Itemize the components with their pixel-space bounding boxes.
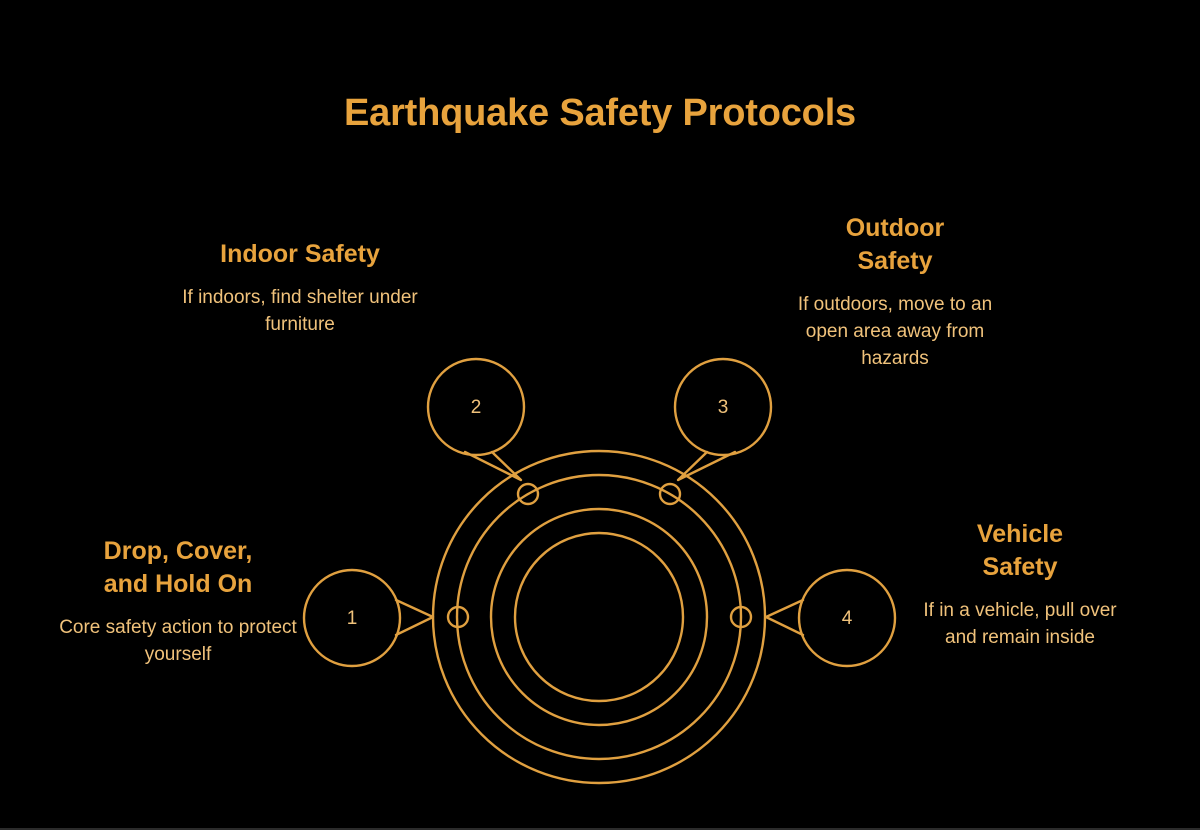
ring-outer [433,451,765,783]
step-title-outdoor-safety: Outdoor Safety [775,212,1015,278]
step-label-drop-cover-hold-on: Drop, Cover, and Hold On Core safety act… [58,535,298,669]
numbered-bubbles: 1 2 3 4 [304,359,895,666]
step-description-vehicle-safety: If in a vehicle, pull over and remain in… [905,598,1135,652]
tail-4 [766,600,803,635]
bubble-4-number: 4 [842,608,853,629]
step-title-outdoor-safety-line1: Outdoor [846,214,945,242]
bubble-1-number: 1 [347,608,358,629]
step-title-vehicle-safety-line2: Safety [982,553,1057,581]
ring-diagram: 1 2 3 4 [0,0,1200,830]
ring-second [457,475,741,759]
step-label-outdoor-safety: Outdoor Safety If outdoors, move to an o… [775,212,1015,373]
step-title-drop-cover-hold-on-line1: Drop, Cover, [104,537,253,565]
step-title-vehicle-safety-line1: Vehicle [977,520,1063,548]
tail-3 [678,452,735,480]
tail-2 [465,452,521,480]
concentric-rings [433,451,765,783]
step-title-indoor-safety: Indoor Safety [175,238,425,271]
ring-third [491,509,707,725]
ring-inner [515,533,683,701]
step-title-outdoor-safety-line2: Safety [857,247,932,275]
bubble-3-number: 3 [718,397,729,418]
step-description-outdoor-safety: If outdoors, move to an open area away f… [775,292,1015,373]
step-description-drop-cover-hold-on: Core safety action to protect yourself [58,615,298,669]
step-title-drop-cover-hold-on-line2: and Hold On [104,570,253,598]
tail-1 [396,600,433,635]
step-label-indoor-safety: Indoor Safety If indoors, find shelter u… [175,238,425,339]
bubble-2-number: 2 [471,397,482,418]
step-description-indoor-safety: If indoors, find shelter under furniture [175,285,425,339]
step-label-vehicle-safety: Vehicle Safety If in a vehicle, pull ove… [905,518,1135,652]
step-title-vehicle-safety: Vehicle Safety [905,518,1135,584]
infographic-canvas: Earthquake Safety Protocols 1 [0,0,1200,828]
step-title-drop-cover-hold-on: Drop, Cover, and Hold On [58,535,298,601]
